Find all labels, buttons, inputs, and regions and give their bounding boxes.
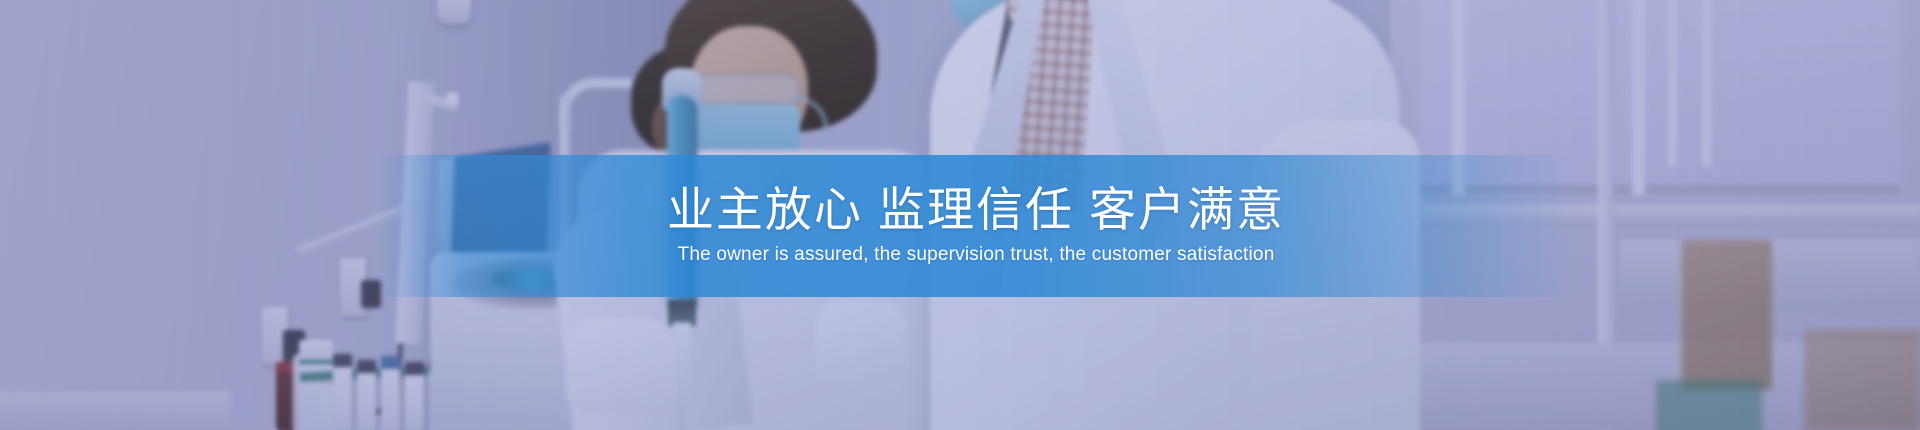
banner-headline: 业主放心 监理信任 客户满意 (667, 185, 1285, 235)
banner-subline: The owner is assured, the supervision tr… (678, 244, 1275, 267)
latex-glove (816, 300, 908, 388)
sample-vial (405, 362, 424, 430)
storage-box (1656, 380, 1762, 430)
monitor-knob (446, 92, 459, 105)
window-mullion (1702, 0, 1711, 166)
sample-vial (333, 354, 352, 430)
left-counter (0, 392, 230, 430)
storage-box (1804, 330, 1920, 430)
banner-text-block: 业主放心 监理信任 客户满意 The owner is assured, the… (378, 155, 1574, 297)
latex-glove (566, 318, 678, 414)
faucet-neck (560, 78, 632, 132)
bottle-cap (299, 340, 333, 364)
sample-vial (357, 360, 376, 430)
ceiling-fixture (437, 0, 471, 24)
sample-vial (381, 356, 400, 430)
hero-banner: 业主放心 监理信任 客户满意 The owner is assured, the… (0, 0, 1920, 430)
window-mullion (1668, 0, 1677, 166)
window-mullion (1632, 0, 1645, 195)
storage-box (1682, 240, 1772, 390)
